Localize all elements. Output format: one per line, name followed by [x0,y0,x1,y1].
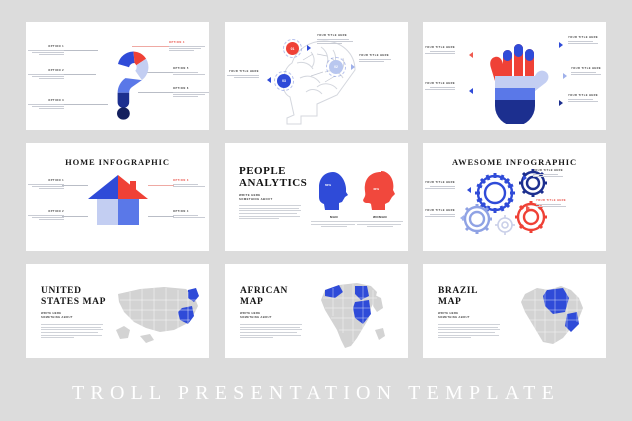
figure-label-woman: WOMAN [359,215,401,219]
callout-body [173,215,205,218]
figure-label-man: MAN [313,215,355,219]
callout-body [425,51,455,54]
callout-option-1[interactable]: OPTION 1 [28,45,64,56]
callout-home-4[interactable]: OPTION 4 [173,210,205,219]
map-title-line-2: MAP [240,297,288,308]
callout-title: YOUR TITLE HERE [536,199,566,202]
slide-brain-infographic[interactable]: 01 02 03 YOUR TITLE HERE YOUR TITLE HERE… [225,22,408,130]
callout-body [536,204,566,207]
map-subhead-line-2: SOMETHING ABOUT [41,316,73,320]
callout-home-2[interactable]: OPTION 2 [28,210,64,221]
callout-title: YOUR TITLE HERE [425,82,455,85]
slide-question-mark-infographic[interactable]: OPTION 1 OPTION 2 OPTION 3 OPTION 4 OPTI… [26,22,209,130]
callout-body [173,72,205,75]
callout-gear-1[interactable]: YOUR TITLE HERE [533,169,563,178]
callout-body [28,104,64,109]
subhead-line-2: SOMETHING ABOUT [239,197,273,201]
banner: TROLL PRESENTATION TEMPLATE [0,366,632,421]
callout-brain-1[interactable]: YOUR TITLE HERE [317,34,353,45]
brazil-map-graphic [509,276,593,357]
slide-awesome-infographic[interactable]: AWESOME INFOGRAPHIC [423,143,606,251]
slide-people-analytics[interactable]: PEOPLE ANALYTICS WRITE HERE SOMETHING AB… [225,143,408,251]
callout-body [533,174,563,177]
house-icon [84,173,152,227]
callout-option-3[interactable]: OPTION 3 [28,99,64,110]
female-head-icon [363,171,397,211]
callout-body [227,75,259,78]
arrow-left-icon-2 [460,215,464,221]
arrow-left-icon-2 [469,88,473,94]
arrow-right-icon-2 [526,205,530,211]
callout-title: OPTION 3 [173,179,205,182]
callout-gear-2[interactable]: YOUR TITLE HERE [536,199,566,208]
figure-woman: 40% [363,171,397,211]
map-body-text [240,324,302,340]
callout-brain-2[interactable]: YOUR TITLE HERE [359,54,391,63]
slide-title-line-2: ANALYTICS [239,177,307,189]
arrow-right-icon-1 [307,45,311,51]
arrow-right-icon-2 [563,73,567,79]
callout-title: OPTION 5 [173,67,205,70]
callout-title: OPTION 2 [28,210,64,213]
slide-african-map[interactable]: AFRICAN MAP WRITE HERE SOMETHING ABOUT [225,264,408,358]
callout-body [568,41,598,44]
african-map-icon [311,274,395,356]
figure-man: 60% [317,171,351,211]
callout-body [173,92,209,97]
callout-hand-2[interactable]: YOUR TITLE HERE [571,67,601,76]
callout-body [169,46,205,51]
figure-percent: 40% [373,187,379,191]
callout-body [425,186,455,189]
male-head-icon [317,171,351,211]
callout-title: YOUR TITLE HERE [533,169,563,172]
callout-brain-3[interactable]: YOUR TITLE HERE [227,70,259,79]
callout-title: OPTION 4 [173,210,205,213]
callout-gear-4[interactable]: YOUR TITLE HERE [425,209,455,218]
callout-title: OPTION 1 [28,179,64,182]
callout-title: YOUR TITLE HERE [568,36,598,39]
figure-man-body [311,221,357,229]
callout-option-5[interactable]: OPTION 5 [173,67,205,76]
house-graphic [84,173,152,227]
node-number: 01 [291,47,295,51]
slide-title: HOME INFOGRAPHIC [26,157,209,167]
callout-hand-4[interactable]: YOUR TITLE HERE [425,46,455,55]
callout-title: YOUR TITLE HERE [425,46,455,49]
arrow-right-icon-1 [523,175,527,181]
slide-united-states-map[interactable]: UNITED STATES MAP WRITE HERE SOMETHING A… [26,264,209,358]
callout-home-3[interactable]: OPTION 3 [173,179,205,188]
hand-icon [478,32,552,124]
callout-hand-3[interactable]: YOUR TITLE HERE [568,94,598,103]
callout-title: OPTION 3 [28,99,64,102]
node-03[interactable]: 03 [277,74,291,88]
callout-body [173,184,205,187]
callout-title: OPTION 6 [173,87,209,90]
map-title-line-2: STATES MAP [41,297,106,308]
arrow-left-icon-1 [469,52,473,58]
callout-option-4[interactable]: OPTION 4 [169,41,205,52]
callout-title: OPTION 4 [169,41,205,44]
callout-title: YOUR TITLE HERE [425,181,455,184]
arrow-left-icon-1 [467,187,471,193]
arrow-right-icon-2 [351,64,355,70]
callout-hand-5[interactable]: YOUR TITLE HERE [425,82,455,91]
callout-gear-3[interactable]: YOUR TITLE HERE [425,181,455,190]
callout-title: YOUR TITLE HERE [317,34,353,37]
map-subhead-line-2: SOMETHING ABOUT [438,316,470,320]
callout-title: OPTION 2 [28,69,64,72]
slide-hand-infographic[interactable]: YOUR TITLE HERE YOUR TITLE HERE YOUR TIT… [423,22,606,130]
callout-body [359,59,391,62]
slide-brazil-map[interactable]: BRAZIL MAP WRITE HERE SOMETHING ABOUT [423,264,606,358]
presentation-preview-board: OPTION 1 OPTION 2 OPTION 3 OPTION 4 OPTI… [0,0,632,421]
figure-woman-body [357,221,403,229]
callout-body [568,99,598,102]
map-title-line-2: MAP [438,297,478,308]
map-title-line-1: BRAZIL [438,286,478,297]
callout-title: YOUR TITLE HERE [568,94,598,97]
callout-body [317,39,353,44]
callout-body [571,72,601,75]
question-mark-graphic [98,38,158,120]
slide-body-text [239,205,301,221]
slide-home-infographic[interactable]: HOME INFOGRAPHIC OPTION 1 OPTION 2 OPTIO… [26,143,209,251]
callout-home-1[interactable]: OPTION 1 [28,179,64,190]
arrow-left-icon-1 [267,77,271,83]
us-map-graphic [110,280,206,351]
united-states-map-icon [110,280,206,346]
slide-title-line-1: PEOPLE [239,165,307,177]
map-title-line-1: UNITED [41,286,106,297]
callout-body [28,50,64,55]
arrow-right-icon-3 [559,100,563,106]
callout-body [28,215,64,220]
figure-percent: 60% [325,183,331,187]
brazil-map-icon [509,276,593,352]
node-02[interactable]: 02 [329,60,343,74]
callout-title: OPTION 1 [28,45,64,48]
callout-title: YOUR TITLE HERE [359,54,391,57]
map-body-text [438,324,500,340]
callout-hand-1[interactable]: YOUR TITLE HERE [568,36,598,45]
map-body-text [41,324,103,340]
hand-graphic [478,32,552,124]
callout-title: YOUR TITLE HERE [227,70,259,73]
arrow-right-icon-1 [559,42,563,48]
callout-option-2[interactable]: OPTION 2 [28,69,64,80]
node-number: 02 [334,65,338,69]
banner-title: TROLL PRESENTATION TEMPLATE [72,382,560,405]
node-01[interactable]: 01 [286,42,299,55]
map-title-line-1: AFRICAN [240,286,288,297]
callout-body [425,214,455,217]
node-number: 03 [282,79,286,83]
callout-body [28,184,64,189]
callout-body [28,74,64,79]
question-mark-icon [98,38,158,120]
callout-body [425,87,455,90]
africa-map-graphic [311,274,395,358]
map-subhead-line-2: SOMETHING ABOUT [240,316,272,320]
callout-title: YOUR TITLE HERE [425,209,455,212]
callout-option-6[interactable]: OPTION 6 [173,87,209,98]
callout-title: YOUR TITLE HERE [571,67,601,70]
